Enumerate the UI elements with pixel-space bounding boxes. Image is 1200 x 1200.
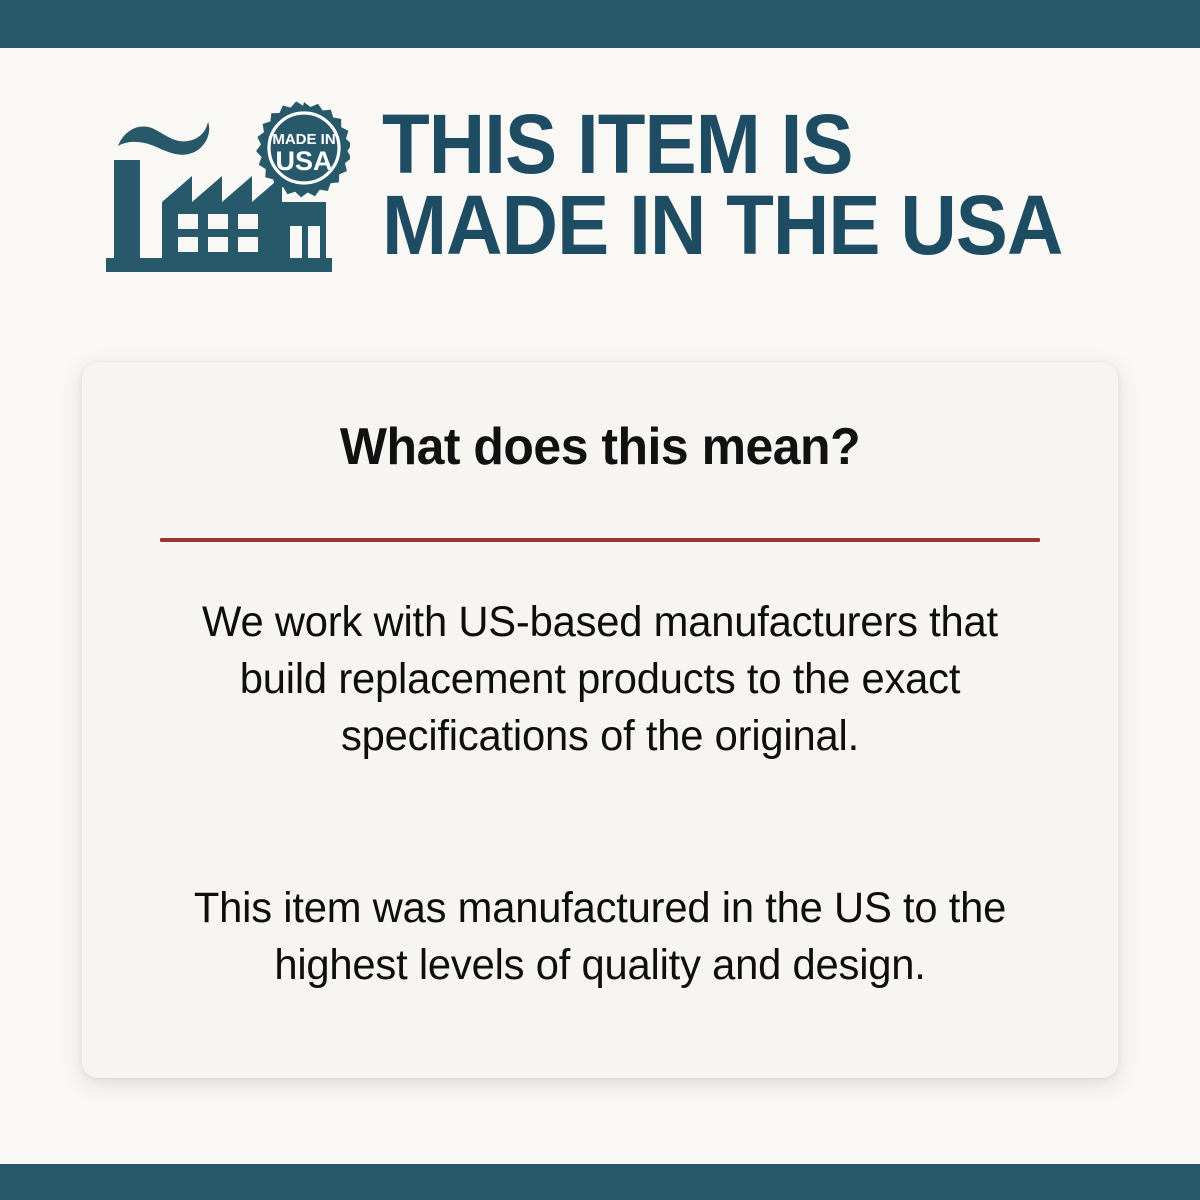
page-headline: THIS ITEM IS MADE IN THE USA (382, 104, 1117, 267)
card-title: What does this mean? (103, 417, 1098, 477)
made-in-usa-logo: MADE IN USA (100, 98, 350, 278)
card-divider (160, 538, 1040, 542)
card-paragraph-2: This item was manufactured in the US to … (156, 880, 1045, 994)
card-paragraph-1: We work with US-based manufacturers that… (156, 594, 1045, 764)
page-root: MADE IN USA THIS ITEM IS MADE IN THE USA… (0, 0, 1200, 1200)
factory-icon: MADE IN USA (100, 98, 350, 278)
header-section: MADE IN USA THIS ITEM IS MADE IN THE USA (0, 48, 1200, 308)
explanation-card: What does this mean? We work with US-bas… (82, 362, 1118, 1078)
badge-line-2-text: USA (275, 146, 332, 176)
bottom-accent-band (0, 1164, 1200, 1200)
top-accent-band (0, 0, 1200, 48)
made-in-usa-badge-icon: MADE IN USA (256, 101, 350, 197)
